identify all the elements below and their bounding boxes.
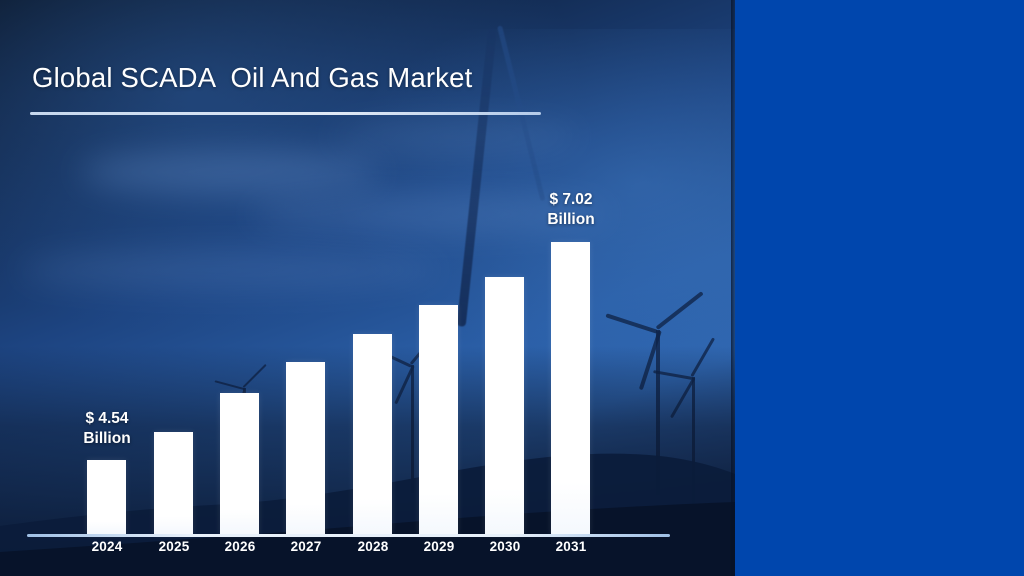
bar-2024[interactable]	[87, 460, 126, 535]
bar-value-unit: Billion	[516, 210, 626, 230]
bar-value-label: $ 4.54 Billion	[52, 409, 162, 449]
bar-value-amount: $ 7.02	[516, 190, 626, 210]
brand-panel: VERIFIED MARKET RESEARCH ® 5.6% CAGR fro…	[735, 0, 1024, 576]
x-label-2027: 2027	[276, 539, 336, 554]
x-label-2025: 2025	[144, 539, 204, 554]
bar-2025[interactable]	[154, 432, 193, 535]
bar-2026[interactable]	[220, 393, 259, 535]
infographic-canvas: Global SCADA Oil And Gas Market $ 4.54 B…	[0, 0, 1024, 576]
bar-2027[interactable]	[286, 362, 325, 535]
bar-chart: $ 4.54 Billion $ 7.02 Billion 2024 2025 …	[0, 0, 735, 576]
x-label-2029: 2029	[409, 539, 469, 554]
x-label-2031: 2031	[541, 539, 601, 554]
x-axis-line	[27, 534, 670, 537]
bar-value-label: $ 7.02 Billion	[516, 190, 626, 230]
x-label-2028: 2028	[343, 539, 403, 554]
bar-2030[interactable]	[485, 277, 524, 535]
bar-2029[interactable]	[419, 305, 458, 535]
bar-value-amount: $ 4.54	[52, 409, 162, 429]
bar-2028[interactable]	[353, 334, 392, 535]
x-label-2024: 2024	[77, 539, 137, 554]
bar-2031[interactable]	[551, 242, 590, 535]
x-label-2030: 2030	[475, 539, 535, 554]
bar-value-unit: Billion	[52, 429, 162, 449]
x-label-2026: 2026	[210, 539, 270, 554]
